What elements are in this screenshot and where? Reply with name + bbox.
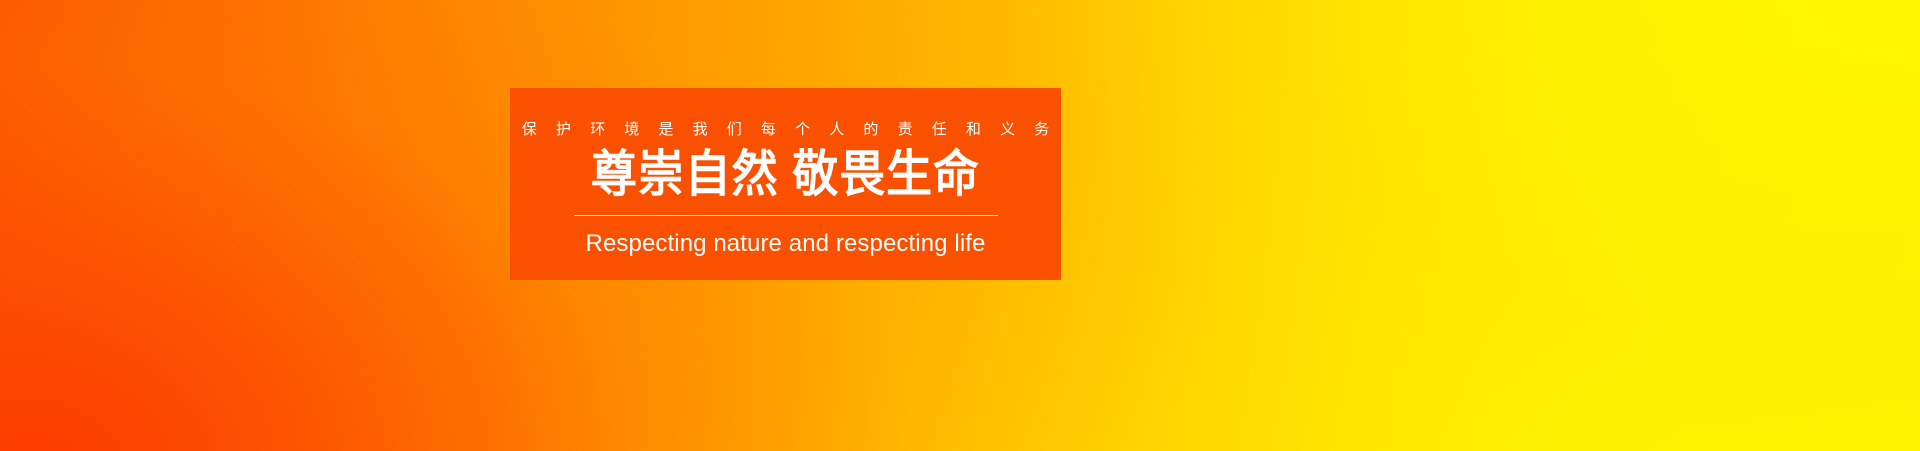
panel-headline-text: 尊崇自然 敬畏生命 xyxy=(591,148,980,201)
panel-eyebrow-text: 保 护 环 境 是 我 们 每 个 人 的 责 任 和 义 务 xyxy=(514,122,1057,137)
panel-subline-text: Respecting nature and respecting life xyxy=(586,232,986,256)
message-panel: 保 护 环 境 是 我 们 每 个 人 的 责 任 和 义 务 尊崇自然 敬畏生… xyxy=(510,88,1061,280)
environment-banner: 保 护 环 境 是 我 们 每 个 人 的 责 任 和 义 务 尊崇自然 敬畏生… xyxy=(0,0,1920,451)
panel-divider-rule xyxy=(574,215,998,216)
